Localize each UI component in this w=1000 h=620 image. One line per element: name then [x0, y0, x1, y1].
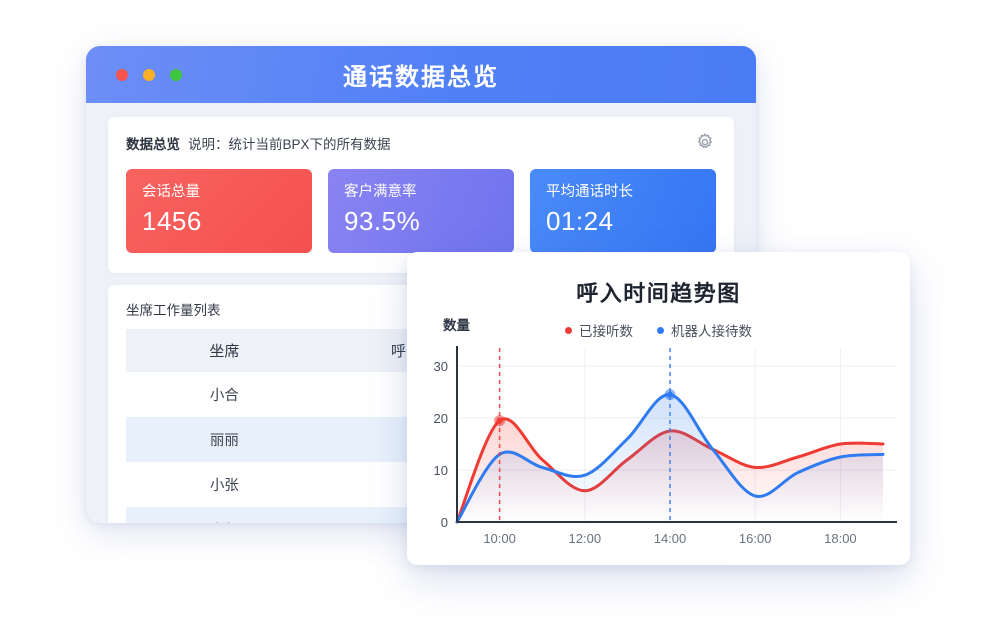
gear-icon[interactable] [694, 131, 716, 153]
stat-value: 1456 [142, 205, 296, 237]
svg-text:16:00: 16:00 [739, 531, 772, 546]
stat-label: 平均通话时长 [546, 182, 700, 202]
svg-text:12:00: 12:00 [569, 531, 602, 546]
overview-description: 说明：统计当前BPX下的所有数据 [188, 133, 391, 153]
maximize-button[interactable] [170, 69, 182, 81]
svg-text:30: 30 [434, 359, 448, 374]
svg-text:10: 10 [434, 463, 448, 478]
stat-value: 93.5% [344, 205, 498, 237]
chart-card: 呼入时间趋势图 已接听数 机器人接待数 数量 010203010:0012:00… [407, 252, 910, 565]
traffic-lights [116, 69, 182, 81]
close-button[interactable] [116, 69, 128, 81]
svg-text:18:00: 18:00 [824, 531, 857, 546]
svg-text:20: 20 [434, 411, 448, 426]
svg-text:14:00: 14:00 [654, 531, 687, 546]
overview-title: 数据总览 [126, 133, 180, 153]
cell-agent: 小何 [126, 507, 323, 523]
plot-area: 010203010:0012:0014:0016:0018:00 [407, 252, 910, 565]
stat-cards: 会话总量 1456 客户满意率 93.5% 平均通话时长 01:24 [126, 169, 716, 253]
minimize-button[interactable] [143, 69, 155, 81]
page-title: 通话数据总览 [86, 57, 756, 92]
stat-card-avg-duration[interactable]: 平均通话时长 01:24 [530, 169, 716, 253]
stat-card-total-sessions[interactable]: 会话总量 1456 [126, 169, 312, 253]
overview-header: 数据总览 说明：统计当前BPX下的所有数据 [126, 133, 716, 153]
stat-value: 01:24 [546, 205, 700, 237]
cell-agent: 丽丽 [126, 417, 323, 462]
cell-agent: 小合 [126, 372, 323, 417]
stat-card-satisfaction[interactable]: 客户满意率 93.5% [328, 169, 514, 253]
column-header-agent[interactable]: 坐席 [126, 329, 323, 372]
cell-agent: 小张 [126, 462, 323, 507]
stat-label: 客户满意率 [344, 182, 498, 202]
svg-text:10:00: 10:00 [483, 531, 516, 546]
svg-text:0: 0 [441, 515, 448, 530]
overview-panel: 数据总览 说明：统计当前BPX下的所有数据 会话总量 1456 客户满意率 93… [108, 117, 734, 273]
window-title-bar: 通话数据总览 [86, 46, 756, 103]
stat-label: 会话总量 [142, 182, 296, 202]
line-chart-svg: 010203010:0012:0014:0016:0018:00 [407, 252, 910, 565]
